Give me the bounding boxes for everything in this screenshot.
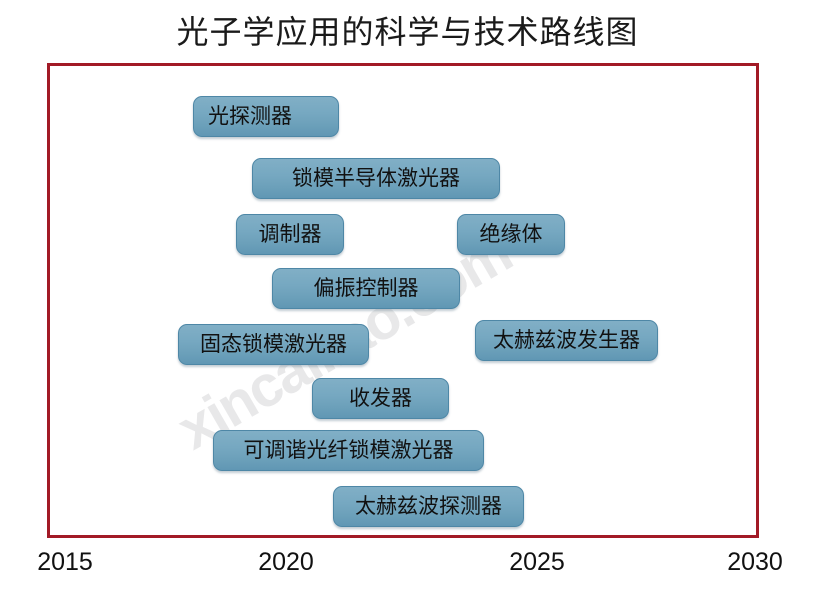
axis-tick-2025: 2025	[509, 548, 565, 577]
roadmap-bar[interactable]: 收发器	[312, 378, 449, 419]
roadmap-bar[interactable]: 光探测器	[193, 96, 339, 137]
roadmap-bar[interactable]: 偏振控制器	[272, 268, 460, 309]
roadmap-bar-label: 锁模半导体激光器	[292, 168, 460, 189]
roadmap-bar[interactable]: 绝缘体	[457, 214, 565, 255]
roadmap-bar[interactable]: 锁模半导体激光器	[252, 158, 500, 199]
roadmap-plot-frame: xincailiao.com 光探测器锁模半导体激光器调制器绝缘体偏振控制器固态…	[47, 63, 759, 538]
roadmap-bar-label: 太赫兹波探测器	[355, 496, 502, 517]
roadmap-bar-label: 固态锁模激光器	[200, 334, 347, 355]
roadmap-bar[interactable]: 太赫兹波探测器	[333, 486, 524, 527]
roadmap-bar-label: 太赫兹波发生器	[493, 330, 640, 351]
roadmap-bar[interactable]: 固态锁模激光器	[178, 324, 369, 365]
page-title: 光子学应用的科学与技术路线图	[0, 12, 815, 52]
year-axis: 2015202020252030	[0, 538, 815, 598]
axis-tick-2030: 2030	[727, 548, 783, 577]
roadmap-bar-label: 可调谐光纤锁模激光器	[244, 440, 454, 461]
roadmap-bar[interactable]: 调制器	[236, 214, 344, 255]
roadmap-bar-label: 光探测器	[208, 106, 292, 127]
roadmap-bar[interactable]: 可调谐光纤锁模激光器	[213, 430, 484, 471]
roadmap-bar[interactable]: 太赫兹波发生器	[475, 320, 658, 361]
roadmap-bar-label: 偏振控制器	[314, 278, 419, 299]
roadmap-bar-label: 绝缘体	[480, 224, 543, 245]
axis-tick-2015: 2015	[37, 548, 93, 577]
roadmap-bar-label: 调制器	[259, 224, 322, 245]
axis-tick-2020: 2020	[258, 548, 314, 577]
roadmap-bar-label: 收发器	[349, 388, 412, 409]
